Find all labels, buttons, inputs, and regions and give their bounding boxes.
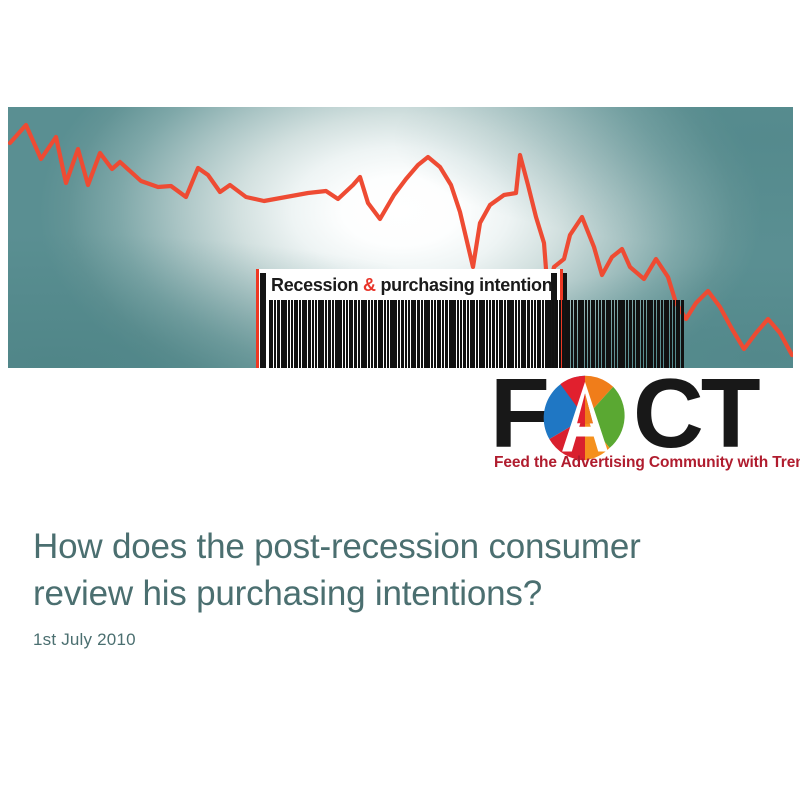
barcode-bar bbox=[449, 300, 456, 368]
barcode-bar bbox=[612, 300, 614, 368]
barcode-bar bbox=[434, 300, 436, 368]
barcode-bar bbox=[384, 300, 386, 368]
barcode-bar bbox=[302, 300, 307, 368]
barcode-bar bbox=[571, 300, 573, 368]
barcode-bar bbox=[291, 300, 293, 368]
barcode-bar bbox=[274, 300, 276, 368]
barcode-bar bbox=[390, 300, 397, 368]
barcode-bar bbox=[281, 300, 287, 368]
barcode-title-prefix: Recession bbox=[271, 275, 363, 295]
title-slide: Recession & purchasing intention F CT bbox=[0, 0, 800, 800]
barcode-bar bbox=[315, 300, 317, 368]
barcode-bar bbox=[374, 300, 377, 368]
barcode-bar bbox=[312, 300, 314, 368]
barcode-bar bbox=[486, 300, 488, 368]
barcode-bar bbox=[457, 300, 459, 368]
recession-banner-image: Recession & purchasing intention bbox=[8, 107, 793, 368]
barcode-bar bbox=[408, 300, 410, 368]
barcode-bar bbox=[288, 300, 290, 368]
barcode-bar bbox=[387, 300, 389, 368]
barcode-bar bbox=[574, 300, 577, 368]
barcode-bar bbox=[335, 300, 342, 368]
barcode-bar bbox=[371, 300, 373, 368]
fact-logo[interactable]: F CT bbox=[490, 366, 792, 480]
barcode-bar bbox=[411, 300, 416, 368]
barcode-bar bbox=[565, 300, 570, 368]
barcode-bar bbox=[615, 300, 617, 368]
barcode-bar bbox=[437, 300, 441, 368]
barcode-bar bbox=[460, 300, 462, 368]
barcode-bar bbox=[591, 300, 595, 368]
barcode-bar bbox=[424, 300, 430, 368]
barcode-bar bbox=[602, 300, 605, 368]
barcode-bar bbox=[467, 300, 469, 368]
barcode-bar bbox=[552, 300, 554, 368]
headline-line-1: How does the post-recession consumer bbox=[33, 527, 641, 566]
barcode-bar bbox=[349, 300, 353, 368]
barcode-bar bbox=[555, 300, 558, 368]
fact-wordmark: F CT bbox=[490, 366, 792, 454]
barcode-bar bbox=[398, 300, 400, 368]
barcode-bar bbox=[358, 300, 360, 368]
barcode-bar bbox=[588, 300, 590, 368]
slide-date: 1st July 2010 bbox=[33, 629, 136, 651]
barcode-bar bbox=[431, 300, 433, 368]
barcode-bar bbox=[470, 300, 475, 368]
barcode-bar bbox=[277, 300, 280, 368]
barcode-bar bbox=[318, 300, 324, 368]
barcode-bar bbox=[421, 300, 423, 368]
barcode-bar bbox=[346, 300, 348, 368]
barcode-bar bbox=[476, 300, 478, 368]
barcode-bar bbox=[585, 300, 587, 368]
barcode-bar bbox=[325, 300, 327, 368]
fact-a-pie-mark bbox=[541, 374, 629, 462]
barcode-bar bbox=[479, 300, 485, 368]
barcode-rail-left bbox=[256, 269, 259, 368]
barcode-graphic: Recession & purchasing intention bbox=[251, 269, 568, 368]
barcode-bar bbox=[361, 300, 367, 368]
barcode-bar bbox=[368, 300, 370, 368]
barcode-title-suffix: purchasing intention bbox=[376, 275, 553, 295]
barcode-bar bbox=[308, 300, 311, 368]
barcode-bar bbox=[559, 300, 561, 368]
barcode-bar bbox=[354, 300, 357, 368]
barcode-guard-left bbox=[260, 273, 266, 368]
barcode-bar bbox=[445, 300, 448, 368]
barcode-bar bbox=[294, 300, 298, 368]
barcode-title-ampersand: & bbox=[363, 275, 376, 295]
barcode-bar bbox=[442, 300, 444, 368]
fact-letters-ct: CT bbox=[633, 364, 758, 462]
fact-letter-f: F bbox=[490, 364, 548, 462]
barcode-bar bbox=[578, 300, 584, 368]
barcode-bar bbox=[332, 300, 334, 368]
barcode-bar bbox=[299, 300, 301, 368]
barcode-bar bbox=[629, 300, 632, 368]
barcode-bar bbox=[626, 300, 628, 368]
barcode-bar bbox=[343, 300, 345, 368]
slide-headline: How does the post-recession consumer rev… bbox=[33, 523, 763, 617]
barcode-bar bbox=[401, 300, 404, 368]
barcode-bar bbox=[562, 300, 564, 368]
fact-tagline: Feed the Advertising Community with Tren… bbox=[494, 454, 792, 472]
barcode-bar bbox=[328, 300, 331, 368]
barcode-bar bbox=[618, 300, 625, 368]
barcode-bar bbox=[378, 300, 383, 368]
barcode-bar bbox=[463, 300, 466, 368]
barcode-bar bbox=[606, 300, 611, 368]
barcode-bar bbox=[405, 300, 407, 368]
barcode-bar bbox=[417, 300, 420, 368]
headline-line-2: review his purchasing intentions? bbox=[33, 570, 763, 617]
barcode-bar bbox=[596, 300, 598, 368]
barcode-bar bbox=[269, 300, 273, 368]
barcode-title: Recession & purchasing intention bbox=[271, 272, 547, 298]
barcode-bar bbox=[599, 300, 601, 368]
